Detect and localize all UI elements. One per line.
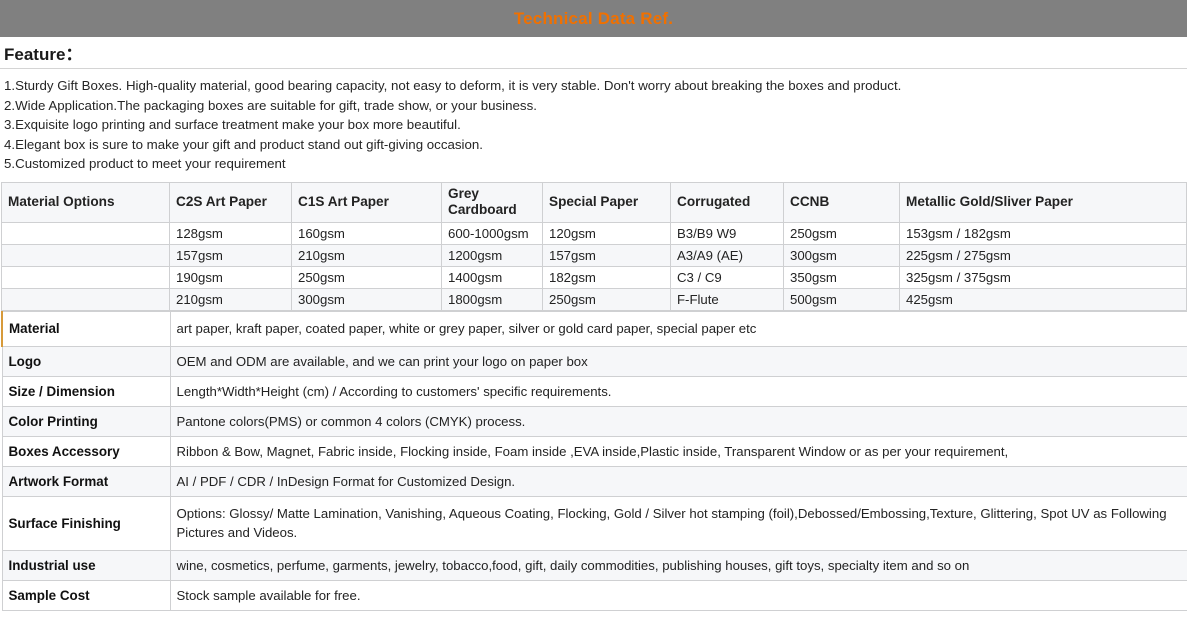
cell-special: 182gsm xyxy=(543,266,671,288)
cell-c2s: 128gsm xyxy=(170,222,292,244)
cell-metallic: 325gsm / 375gsm xyxy=(900,266,1187,288)
cell-material-options xyxy=(2,244,170,266)
spec-value-size-dimension: Length*Width*Height (cm) / According to … xyxy=(170,376,1187,406)
feature-item: 4.Elegant box is sure to make your gift … xyxy=(4,135,1183,155)
column-header-corrugated: Corrugated xyxy=(671,182,784,222)
spec-row-size-dimension: Size / Dimension Length*Width*Height (cm… xyxy=(2,376,1187,406)
cell-metallic: 153gsm / 182gsm xyxy=(900,222,1187,244)
feature-item: 1.Sturdy Gift Boxes. High-quality materi… xyxy=(4,76,1183,96)
spec-row-material: Material art paper, kraft paper, coated … xyxy=(2,311,1187,346)
technical-data-sheet: Technical Data Ref. Feature： 1.Sturdy Gi… xyxy=(0,0,1187,620)
cell-c2s: 157gsm xyxy=(170,244,292,266)
spec-value-artwork-format: AI / PDF / CDR / InDesign Format for Cus… xyxy=(170,466,1187,496)
spec-label-sample-cost: Sample Cost xyxy=(2,580,170,610)
title-bar: Technical Data Ref. xyxy=(0,0,1187,37)
cell-grey: 1800gsm xyxy=(442,288,543,310)
cell-c2s: 190gsm xyxy=(170,266,292,288)
spec-value-color-printing: Pantone colors(PMS) or common 4 colors (… xyxy=(170,406,1187,436)
spec-row-industrial-use: Industrial use wine, cosmetics, perfume,… xyxy=(2,550,1187,580)
spec-label-logo: Logo xyxy=(2,346,170,376)
spec-value-industrial-use: wine, cosmetics, perfume, garments, jewe… xyxy=(170,550,1187,580)
cell-material-options xyxy=(2,288,170,310)
material-options-table: Material Options C2S Art Paper C1S Art P… xyxy=(1,182,1187,311)
cell-grey: 600-1000gsm xyxy=(442,222,543,244)
cell-c2s: 210gsm xyxy=(170,288,292,310)
column-header-c1s-art-paper: C1S Art Paper xyxy=(292,182,442,222)
feature-item: 5.Customized product to meet your requir… xyxy=(4,154,1183,174)
specification-table: Material art paper, kraft paper, coated … xyxy=(1,311,1187,611)
spec-value-surface-finishing: Options: Glossy/ Matte Lamination, Vanis… xyxy=(170,496,1187,550)
column-header-special-paper: Special Paper xyxy=(543,182,671,222)
spec-label-material: Material xyxy=(2,311,170,346)
page-title: Technical Data Ref. xyxy=(514,9,673,29)
cell-metallic: 225gsm / 275gsm xyxy=(900,244,1187,266)
cell-c1s: 160gsm xyxy=(292,222,442,244)
spec-row-sample-cost: Sample Cost Stock sample available for f… xyxy=(2,580,1187,610)
cell-ccnb: 250gsm xyxy=(784,222,900,244)
cell-special: 120gsm xyxy=(543,222,671,244)
feature-heading: Feature： xyxy=(4,40,82,65)
cell-c1s: 250gsm xyxy=(292,266,442,288)
table-row: 157gsm 210gsm 1200gsm 157gsm A3/A9 (AE) … xyxy=(2,244,1187,266)
table-row: 190gsm 250gsm 1400gsm 182gsm C3 / C9 350… xyxy=(2,266,1187,288)
spec-value-logo: OEM and ODM are available, and we can pr… xyxy=(170,346,1187,376)
spec-label-artwork-format: Artwork Format xyxy=(2,466,170,496)
spec-label-industrial-use: Industrial use xyxy=(2,550,170,580)
spec-label-color-printing: Color Printing xyxy=(2,406,170,436)
spec-label-boxes-accessory: Boxes Accessory xyxy=(2,436,170,466)
cell-c1s: 300gsm xyxy=(292,288,442,310)
table-header-row: Material Options C2S Art Paper C1S Art P… xyxy=(2,182,1187,222)
cell-ccnb: 300gsm xyxy=(784,244,900,266)
cell-special: 157gsm xyxy=(543,244,671,266)
column-header-material-options: Material Options xyxy=(2,182,170,222)
spec-value-sample-cost: Stock sample available for free. xyxy=(170,580,1187,610)
spec-row-boxes-accessory: Boxes Accessory Ribbon & Bow, Magnet, Fa… xyxy=(2,436,1187,466)
column-header-grey-cardboard: Grey Cardboard xyxy=(442,182,543,222)
spec-value-material: art paper, kraft paper, coated paper, wh… xyxy=(170,311,1187,346)
spec-row-surface-finishing: Surface Finishing Options: Glossy/ Matte… xyxy=(2,496,1187,550)
cell-metallic: 425gsm xyxy=(900,288,1187,310)
cell-c1s: 210gsm xyxy=(292,244,442,266)
cell-ccnb: 500gsm xyxy=(784,288,900,310)
cell-corrugated: C3 / C9 xyxy=(671,266,784,288)
cell-material-options xyxy=(2,222,170,244)
column-header-metallic-paper: Metallic Gold/Sliver Paper xyxy=(900,182,1187,222)
cell-material-options xyxy=(2,266,170,288)
cell-ccnb: 350gsm xyxy=(784,266,900,288)
table-row: 128gsm 160gsm 600-1000gsm 120gsm B3/B9 W… xyxy=(2,222,1187,244)
spec-label-size-dimension: Size / Dimension xyxy=(2,376,170,406)
spec-row-color-printing: Color Printing Pantone colors(PMS) or co… xyxy=(2,406,1187,436)
feature-heading-row: Feature： xyxy=(0,37,1187,69)
cell-corrugated: A3/A9 (AE) xyxy=(671,244,784,266)
spec-label-surface-finishing: Surface Finishing xyxy=(2,496,170,550)
cell-corrugated: B3/B9 W9 xyxy=(671,222,784,244)
spec-row-logo: Logo OEM and ODM are available, and we c… xyxy=(2,346,1187,376)
feature-item: 3.Exquisite logo printing and surface tr… xyxy=(4,115,1183,135)
cell-special: 250gsm xyxy=(543,288,671,310)
spec-value-boxes-accessory: Ribbon & Bow, Magnet, Fabric inside, Flo… xyxy=(170,436,1187,466)
cell-grey: 1400gsm xyxy=(442,266,543,288)
feature-item: 2.Wide Application.The packaging boxes a… xyxy=(4,96,1183,116)
column-header-c2s-art-paper: C2S Art Paper xyxy=(170,182,292,222)
cell-corrugated: F-Flute xyxy=(671,288,784,310)
spec-row-artwork-format: Artwork Format AI / PDF / CDR / InDesign… xyxy=(2,466,1187,496)
feature-list: 1.Sturdy Gift Boxes. High-quality materi… xyxy=(0,69,1187,182)
table-row: 210gsm 300gsm 1800gsm 250gsm F-Flute 500… xyxy=(2,288,1187,310)
column-header-ccnb: CCNB xyxy=(784,182,900,222)
cell-grey: 1200gsm xyxy=(442,244,543,266)
